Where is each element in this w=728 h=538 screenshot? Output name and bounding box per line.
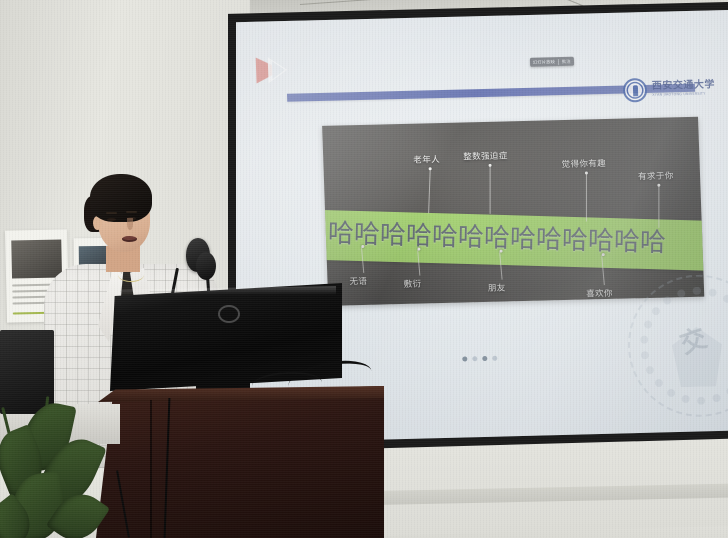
university-seal-icon (623, 78, 648, 103)
foreground-plant (0, 396, 126, 538)
toolbar-left-label: 幻灯片放映 (533, 59, 555, 66)
annotation-bottom-1: 敷衍 (322, 117, 698, 126)
slide-pagination[interactable] (462, 356, 497, 362)
annotation-top-3: 有求于你 (322, 117, 698, 126)
pager-dot-2[interactable] (472, 356, 477, 361)
toolbar-right-label: 批注 (562, 58, 571, 64)
presentation-toolbar-chip[interactable]: 幻灯片放映 批注 (530, 57, 574, 67)
toolbar-divider (558, 59, 559, 65)
annotation-bottom-2: 朋友 (322, 117, 698, 126)
pager-dot-1[interactable] (462, 356, 467, 361)
annotation-top-0: 老年人 (322, 117, 698, 126)
pager-dot-3[interactable] (482, 356, 487, 361)
university-name-en: XI'AN JIAOTONG UNIVERSITY (652, 93, 715, 98)
presenter-nose (127, 218, 133, 230)
presenter-mouth (122, 236, 137, 242)
podium-edge (150, 400, 152, 538)
presenter-hair (90, 174, 152, 222)
annotation-top-2: 觉得你有趣 (322, 117, 698, 126)
green-highlight-band (322, 210, 704, 271)
annotation-bottom-3: 喜欢你 (322, 117, 698, 126)
monitor-logo-icon (218, 305, 240, 323)
lecture-hall-photo: 西安交通大学 XI'AN JIAOTONG UNIVERSITY 幻灯片放映 批… (0, 0, 728, 538)
haha-text: 哈哈哈哈哈哈哈哈哈哈哈哈哈 (327, 206, 704, 273)
podium (96, 386, 384, 538)
slide-image-panel: 哈哈哈哈哈哈哈哈哈哈哈哈哈 老年人 整数强迫症 觉得你有趣 (322, 117, 704, 306)
microphone-head-secondary (196, 252, 216, 280)
university-name-cn: 西安交通大学 (652, 81, 715, 93)
annotation-top-1: 整数强迫症 (322, 117, 698, 126)
university-logo: 西安交通大学 XI'AN JIAOTONG UNIVERSITY (623, 76, 716, 102)
pager-dot-4[interactable] (492, 356, 497, 361)
annotation-bottom-0: 无语 (322, 117, 698, 126)
chevron-right-inner-icon (272, 61, 286, 79)
